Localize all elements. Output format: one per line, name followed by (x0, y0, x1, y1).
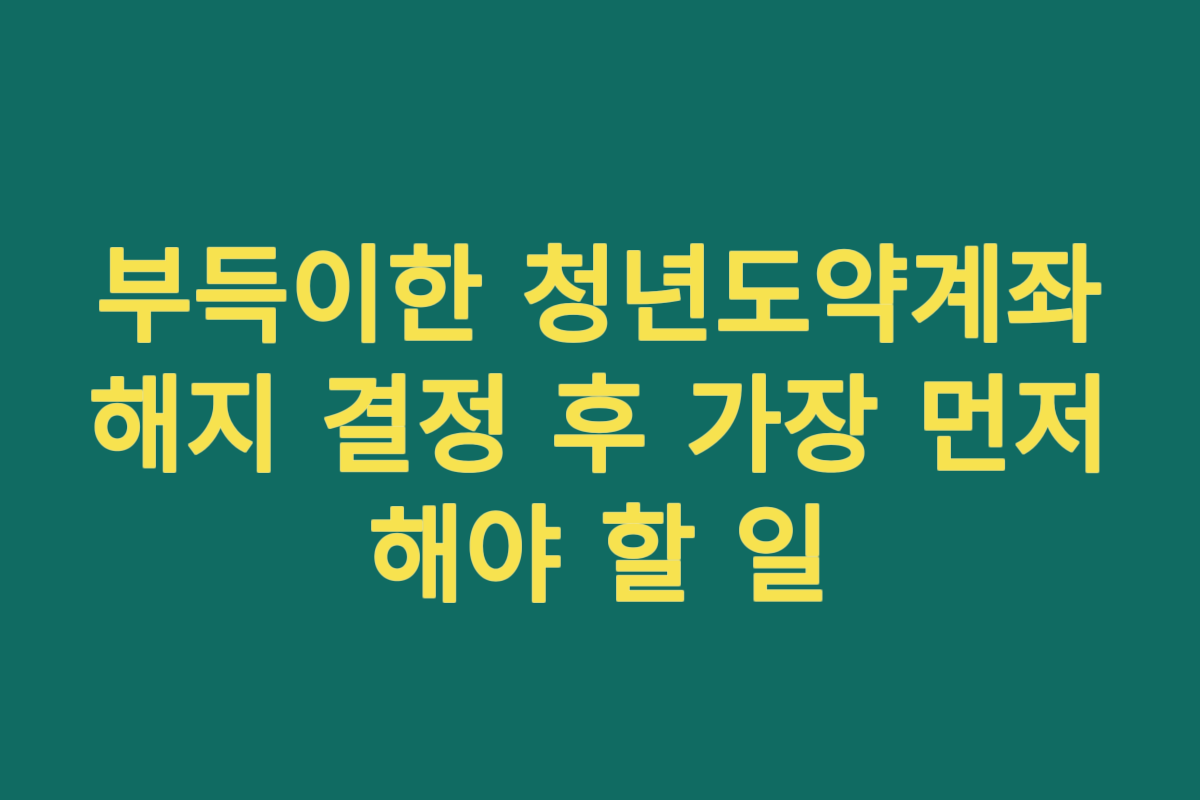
headline-block: 부득이한 청년도약계좌 해지 결정 후 가장 먼저 해야 할 일 (0, 231, 1200, 621)
headline-line-1: 부득이한 청년도약계좌 (0, 231, 1200, 361)
headline-line-2: 해지 결정 후 가장 먼저 (0, 361, 1200, 491)
poster-canvas: 부득이한 청년도약계좌 해지 결정 후 가장 먼저 해야 할 일 (0, 0, 1200, 800)
headline-line-3: 해야 할 일 (0, 491, 1200, 621)
